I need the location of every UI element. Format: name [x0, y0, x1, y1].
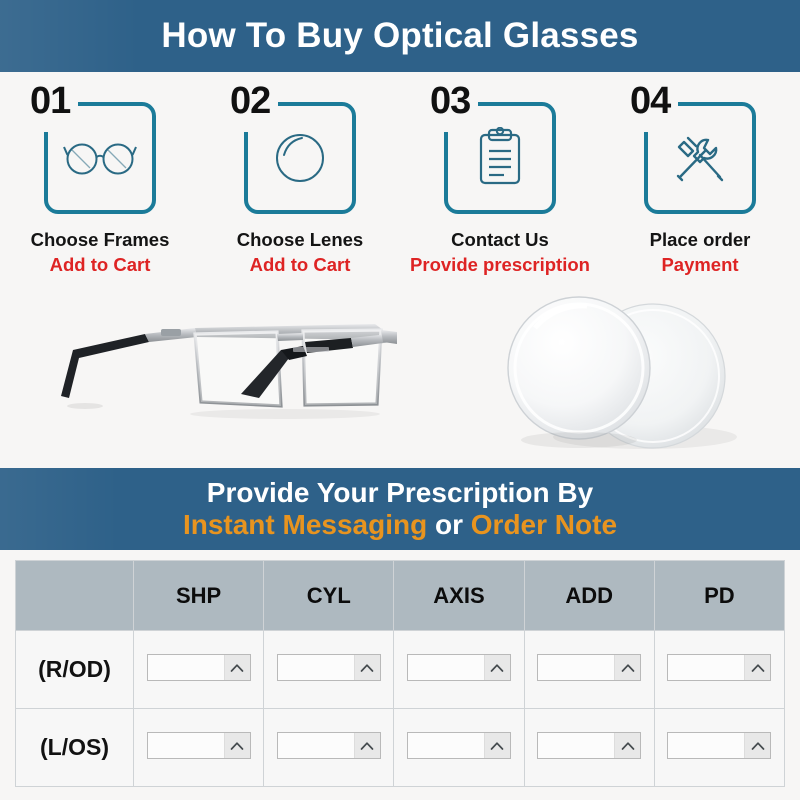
add-select-right[interactable] — [537, 654, 641, 681]
chevron-up-icon[interactable] — [224, 655, 250, 680]
step-02-title: Choose Lenes — [200, 228, 400, 251]
pd-select-right-value — [668, 655, 744, 680]
column-header-pd: PD — [654, 561, 784, 631]
step-03-subtitle: Provide prescription — [400, 253, 600, 277]
step-03-labels: Contact Us Provide prescription — [400, 228, 600, 277]
column-header-blank — [16, 561, 134, 631]
rx-banner-glow — [0, 468, 120, 550]
add-select-right-value — [538, 655, 614, 680]
shp-select-right-value — [148, 655, 224, 680]
page-root: How To Buy Optical Glasses 01 — [0, 0, 800, 800]
page-title: How To Buy Optical Glasses — [161, 16, 638, 56]
axis-select-right-value — [408, 655, 484, 680]
pd-select-left[interactable] — [667, 732, 771, 759]
pd-select-left-value — [668, 733, 744, 758]
step-01-title: Choose Frames — [0, 228, 200, 251]
column-header-cyl: CYL — [264, 561, 394, 631]
step-04-labels: Place order Payment — [600, 228, 800, 277]
pd-select-right[interactable] — [667, 654, 771, 681]
row-label-right-eye: (R/OD) — [16, 631, 134, 709]
step-02-subtitle: Add to Cart — [200, 253, 400, 277]
shp-select-right[interactable] — [147, 654, 251, 681]
step-03-title: Contact Us — [400, 228, 600, 251]
chevron-up-icon[interactable] — [484, 733, 510, 758]
column-header-shp: SHP — [134, 561, 264, 631]
add-select-left-value — [538, 733, 614, 758]
cell-left-shp — [134, 709, 264, 787]
step-02: 02 Choose Lenes Add to Cart — [200, 78, 400, 283]
step-01-box-wrap: 01 — [44, 102, 156, 214]
cell-left-pd — [654, 709, 784, 787]
shp-select-left-value — [148, 733, 224, 758]
prescription-table: SHP CYL AXIS ADD PD (R/OD) — [15, 560, 785, 787]
table-row: (R/OD) — [16, 631, 785, 709]
table-header-row: SHP CYL AXIS ADD PD — [16, 561, 785, 631]
cyl-select-left-value — [278, 733, 354, 758]
step-04-box-wrap: 04 — [644, 102, 756, 214]
cyl-select-right-value — [278, 655, 354, 680]
rx-instant-messaging-text: Instant Messaging — [183, 509, 427, 540]
step-02-box-wrap: 02 — [244, 102, 356, 214]
step-01-number: 01 — [30, 80, 70, 123]
step-04-number: 04 — [630, 80, 670, 123]
cyl-select-left[interactable] — [277, 732, 381, 759]
step-04-title: Place order — [600, 228, 800, 251]
rx-banner-line2: Instant Messaging or Order Note — [183, 509, 617, 540]
step-04: 04 Plac — [600, 78, 800, 283]
step-01-subtitle: Add to Cart — [0, 253, 200, 277]
cell-right-cyl — [264, 631, 394, 709]
rx-banner-line1: Provide Your Prescription By — [207, 478, 593, 507]
header-glow — [0, 0, 140, 72]
table-row: (L/OS) — [16, 709, 785, 787]
prescription-table-header: SHP CYL AXIS ADD PD — [16, 561, 785, 631]
optical-lenses-image — [485, 294, 785, 459]
row-label-left-eye: (L/OS) — [16, 709, 134, 787]
rx-conjunction-text: or — [427, 509, 471, 540]
cell-right-shp — [134, 631, 264, 709]
chevron-up-icon[interactable] — [354, 655, 380, 680]
step-03-box-wrap: 03 — [444, 102, 556, 214]
step-02-number: 02 — [230, 80, 270, 123]
chevron-up-icon[interactable] — [484, 655, 510, 680]
rx-order-note-text: Order Note — [471, 509, 617, 540]
eyeglasses-frame-image — [45, 306, 415, 446]
cell-right-axis — [394, 631, 524, 709]
step-03-number: 03 — [430, 80, 470, 123]
add-select-left[interactable] — [537, 732, 641, 759]
step-04-subtitle: Payment — [600, 253, 800, 277]
step-02-labels: Choose Lenes Add to Cart — [200, 228, 400, 277]
step-01-labels: Choose Frames Add to Cart — [0, 228, 200, 277]
axis-select-left[interactable] — [407, 732, 511, 759]
axis-select-right[interactable] — [407, 654, 511, 681]
chevron-up-icon[interactable] — [744, 655, 770, 680]
steps-row: 01 Choose Frames Add to Cart — [0, 78, 800, 283]
cell-right-add — [524, 631, 654, 709]
chevron-up-icon[interactable] — [614, 655, 640, 680]
chevron-up-icon[interactable] — [354, 733, 380, 758]
shp-select-left[interactable] — [147, 732, 251, 759]
axis-select-left-value — [408, 733, 484, 758]
column-header-add: ADD — [524, 561, 654, 631]
prescription-table-body: (R/OD) — [16, 631, 785, 787]
chevron-up-icon[interactable] — [744, 733, 770, 758]
column-header-axis: AXIS — [394, 561, 524, 631]
product-row — [0, 288, 800, 463]
cell-right-pd — [654, 631, 784, 709]
chevron-up-icon[interactable] — [614, 733, 640, 758]
chevron-up-icon[interactable] — [224, 733, 250, 758]
step-03: 03 Contact Us Provide prescription — [400, 78, 600, 283]
cell-left-axis — [394, 709, 524, 787]
cell-left-add — [524, 709, 654, 787]
cyl-select-right[interactable] — [277, 654, 381, 681]
header-banner: How To Buy Optical Glasses — [0, 0, 800, 72]
prescription-banner: Provide Your Prescription By Instant Mes… — [0, 468, 800, 550]
step-01: 01 Choose Frames Add to Cart — [0, 78, 200, 283]
cell-left-cyl — [264, 709, 394, 787]
